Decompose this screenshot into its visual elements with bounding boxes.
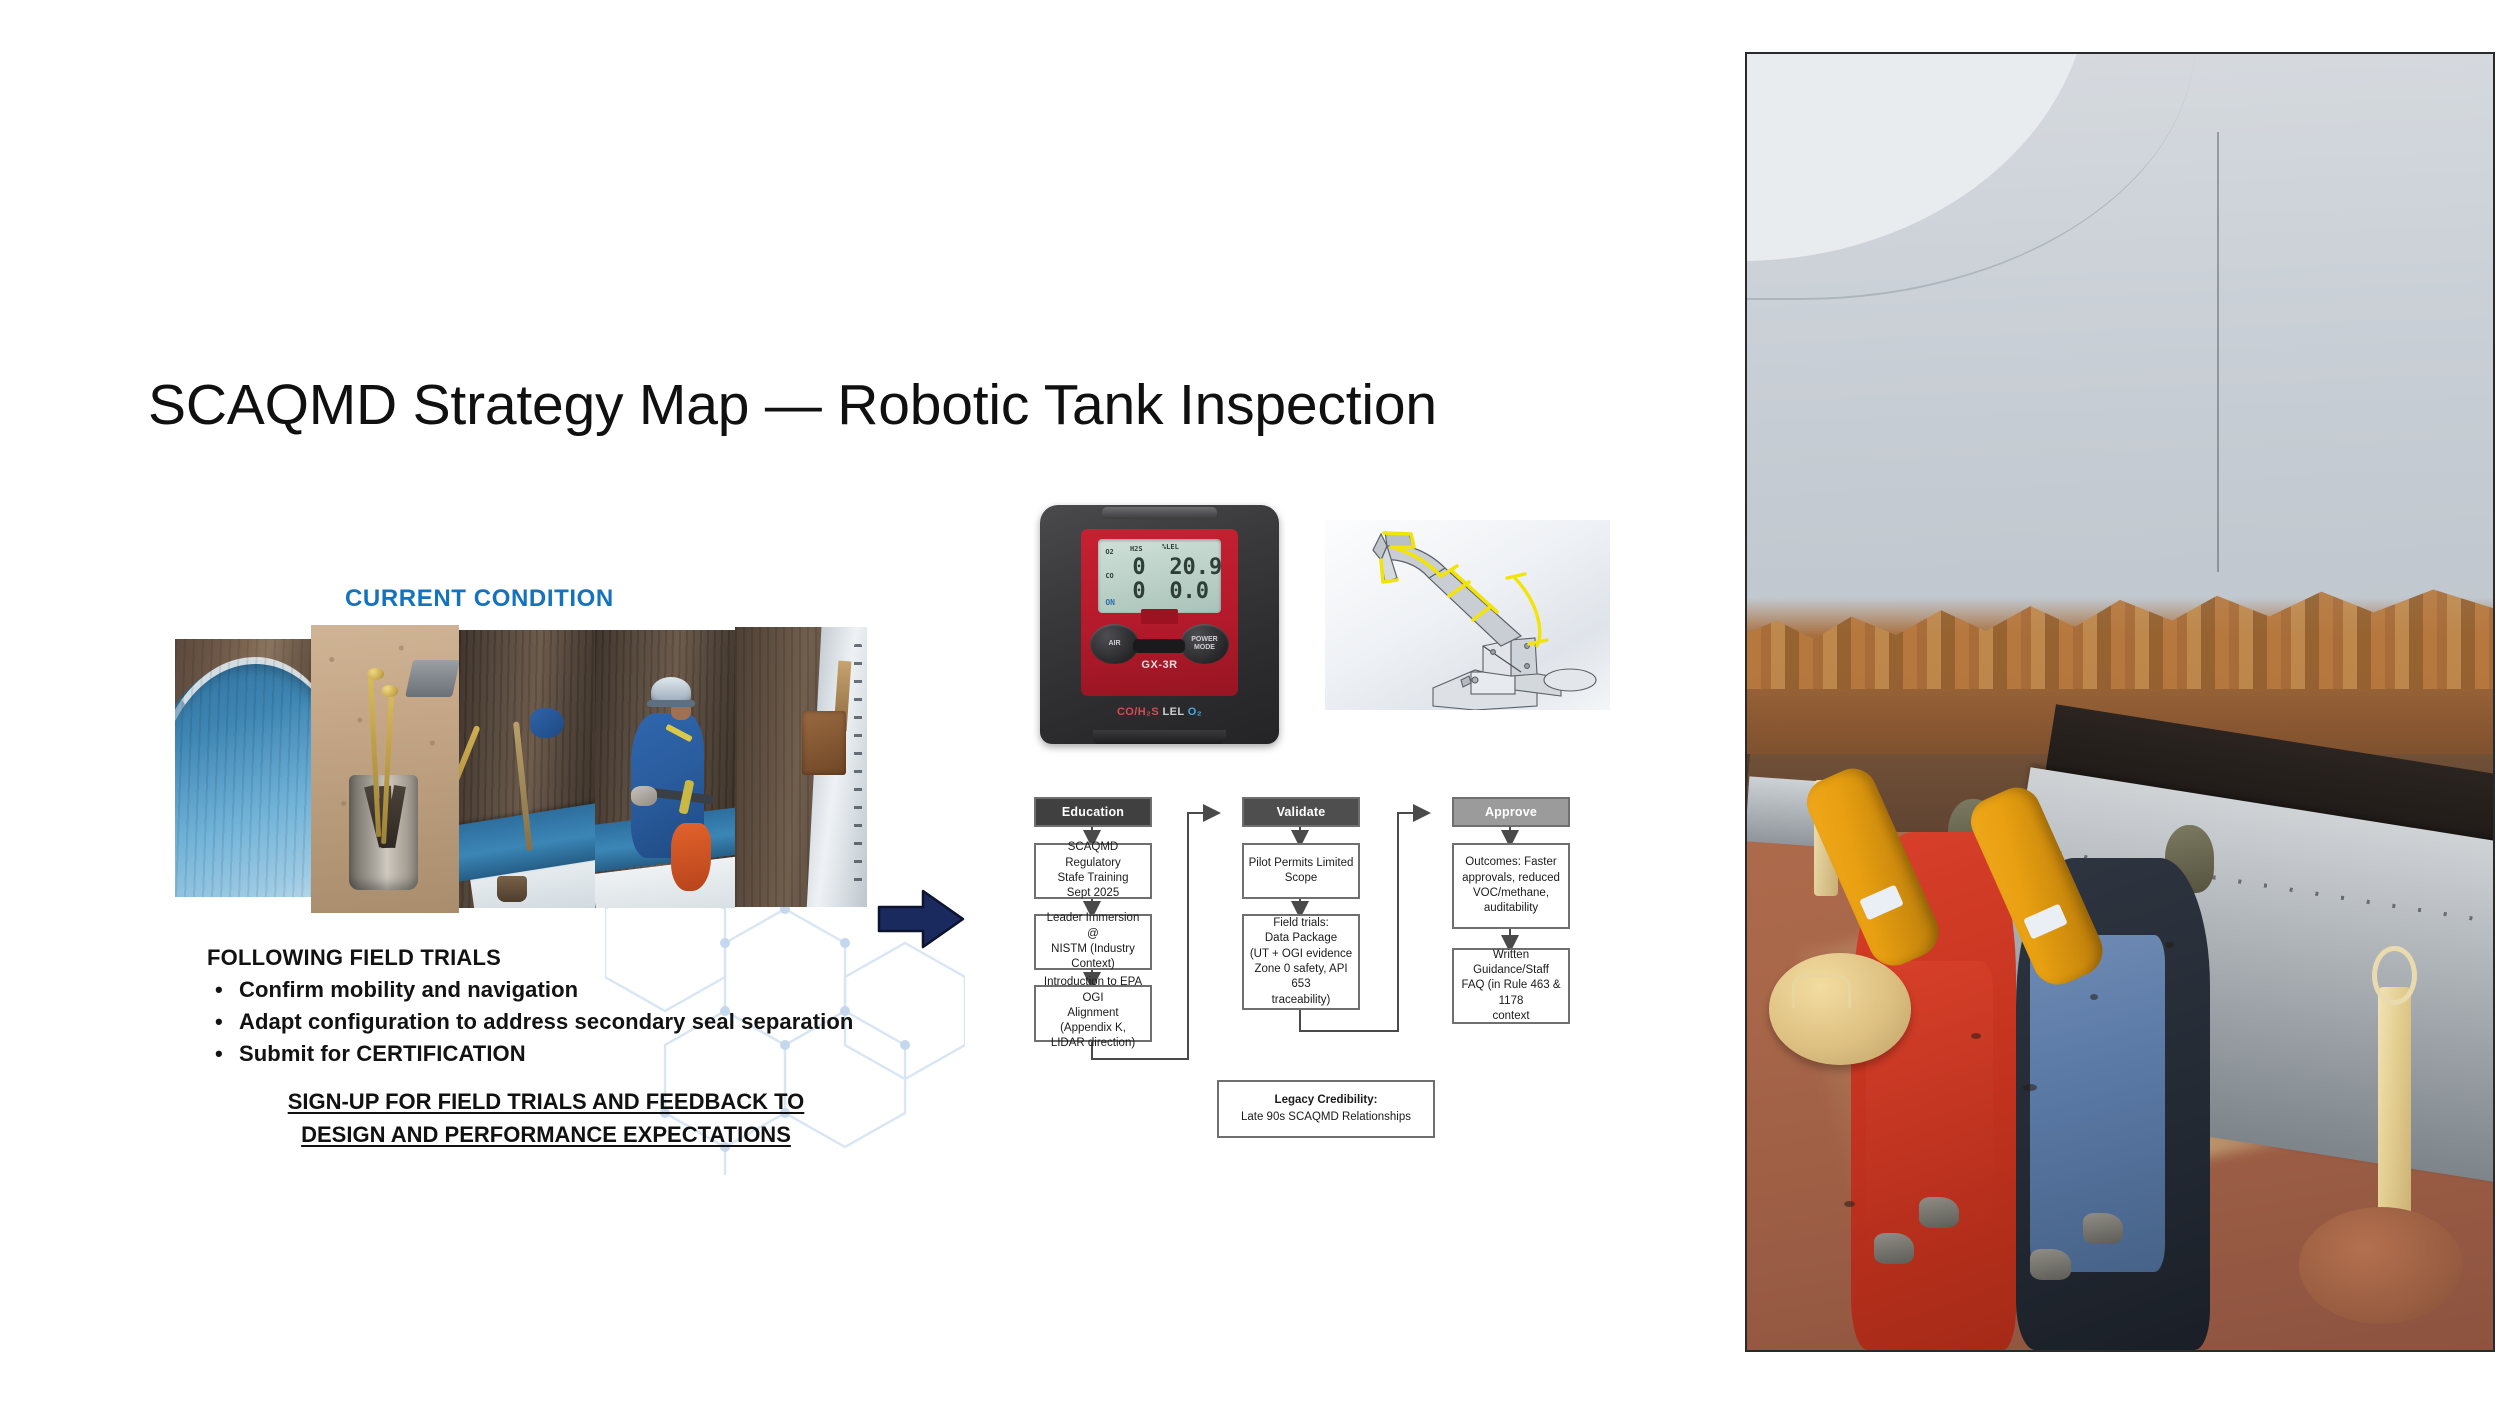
flow-header-validate: Validate: [1242, 797, 1360, 827]
list-item: • Submit for CERTIFICATION: [207, 1041, 853, 1067]
field-trials-list: • Confirm mobility and navigation • Adap…: [207, 977, 853, 1067]
detector-sensor-slot: [1133, 639, 1185, 652]
list-item-label: Adapt configuration to address secondary…: [239, 1009, 853, 1035]
list-item-label: Confirm mobility and navigation: [239, 977, 578, 1003]
flow-box-outcomes: Outcomes: Faster approvals, reduced VOC/…: [1452, 843, 1570, 929]
lcd-label-o2: O2: [1105, 548, 1113, 556]
gas-label-o2: O₂: [1188, 706, 1202, 718]
detector-lcd-screen: O2 H2S %LEL CO 0 20.9 0 0.0 ON: [1098, 539, 1221, 613]
bullet-glyph: •: [207, 977, 239, 1003]
lcd-value-top-right: 20.9: [1169, 555, 1221, 580]
signup-line-2: DESIGN AND PERFORMANCE EXPECTATIONS: [301, 1122, 791, 1147]
detector-base: [1093, 730, 1227, 744]
flow-header-education: Education: [1034, 797, 1152, 827]
right-arrow-icon: [877, 887, 965, 951]
flow-box-field-trials-data-package: Field trials: Data Package (UT + OGI evi…: [1242, 914, 1360, 1010]
gas-label-lel: LEL: [1163, 706, 1185, 718]
lcd-label-lel: %LEL: [1162, 543, 1179, 551]
detector-power-mode-button[interactable]: POWER MODE: [1180, 624, 1229, 664]
bullet-glyph: •: [207, 1009, 239, 1035]
condition-photo-strip: [175, 625, 865, 913]
worker1-boot-2: [1919, 1197, 1959, 1228]
current-condition-panel: CURRENT CONDITION: [175, 585, 955, 1185]
lcd-label-co: CO: [1105, 572, 1113, 580]
hero-photo-workers-in-tank: [1745, 52, 2495, 1352]
gas-detector-image: O2 H2S %LEL CO 0 20.9 0 0.0 ON AIR POWER…: [1032, 495, 1287, 750]
legacy-title: Legacy Credibility:: [1275, 1092, 1378, 1109]
strategy-flowchart: Education SCAQMD Regulatory Stafe Traini…: [1020, 795, 1640, 1195]
slide-canvas: SCAQMD Strategy Map — Robotic Tank Inspe…: [0, 0, 2500, 1406]
worker2-boot: [2030, 1249, 2070, 1280]
lcd-value-top-left: 0: [1132, 555, 1145, 580]
field-trials-title: FOLLOWING FIELD TRIALS: [207, 945, 853, 971]
flow-box-legacy-credibility: Legacy Credibility: Late 90s SCAQMD Rela…: [1217, 1080, 1435, 1138]
photo-wall-white-panel-wood: [735, 627, 867, 907]
legacy-subtitle: Late 90s SCAQMD Relationships: [1241, 1109, 1411, 1126]
signup-callout: SIGN-UP FOR FIELD TRIALS AND FEEDBACK TO…: [251, 1085, 841, 1151]
photo-worker-blue-coveralls: [595, 630, 735, 908]
flow-box-scaqmd-regulatory-staff-training: SCAQMD Regulatory Stafe Training Sept 20…: [1034, 843, 1152, 899]
detector-brand-logo: [1141, 609, 1179, 624]
flow-box-written-guidance-staff-faq: Written Guidance/Staff FAQ (in Rule 463 …: [1452, 948, 1570, 1024]
following-field-trials-block: FOLLOWING FIELD TRIALS • Confirm mobilit…: [207, 945, 853, 1067]
tank-manhole-cover: [1769, 953, 1911, 1064]
flow-header-approve: Approve: [1452, 797, 1570, 827]
worker1-boot: [1874, 1233, 1914, 1264]
detector-gas-labels: CO/H₂S LEL O₂: [1062, 706, 1258, 718]
detector-front-face: O2 H2S %LEL CO 0 20.9 0 0.0 ON AIR POWER…: [1081, 529, 1239, 696]
lcd-value-bottom-right: 0.0: [1169, 579, 1209, 604]
robotic-arm-cad-image: [1325, 520, 1610, 710]
page-title: SCAQMD Strategy Map — Robotic Tank Inspe…: [148, 372, 1437, 438]
flow-box-leader-immersion-nistm: Leader Immersion @ NISTM (Industry Conte…: [1034, 914, 1152, 970]
list-item: • Confirm mobility and navigation: [207, 977, 853, 1003]
section-heading-current-condition: CURRENT CONDITION: [345, 585, 614, 613]
signup-line-1: SIGN-UP FOR FIELD TRIALS AND FEEDBACK TO: [288, 1089, 805, 1114]
photo-tank-interior-blue-liner: [175, 639, 311, 897]
list-item: • Adapt configuration to address seconda…: [207, 1009, 853, 1035]
bullet-glyph: •: [207, 1041, 239, 1067]
lcd-label-h2s: H2S: [1130, 545, 1143, 553]
detector-top-clip: [1102, 507, 1217, 519]
detector-air-button[interactable]: AIR: [1090, 624, 1139, 664]
photo-desert-gold-rods: [311, 625, 459, 913]
lcd-status: ON: [1105, 598, 1115, 607]
flow-box-pilot-permits-limited-scope: Pilot Permits Limited Scope: [1242, 843, 1360, 899]
gas-label-co-h2s: CO/H₂S: [1117, 706, 1159, 718]
detector-model-label: GX-3R: [1081, 659, 1239, 671]
worker2-boot-2: [2083, 1213, 2123, 1244]
flow-box-epa-ogi-alignment: Introduction to EPA OGI Alignment (Appen…: [1034, 985, 1152, 1042]
list-item-label: Submit for CERTIFICATION: [239, 1041, 526, 1067]
photo-pole-on-tank-wall: [459, 630, 595, 908]
lcd-value-bottom-left: 0: [1132, 579, 1145, 604]
